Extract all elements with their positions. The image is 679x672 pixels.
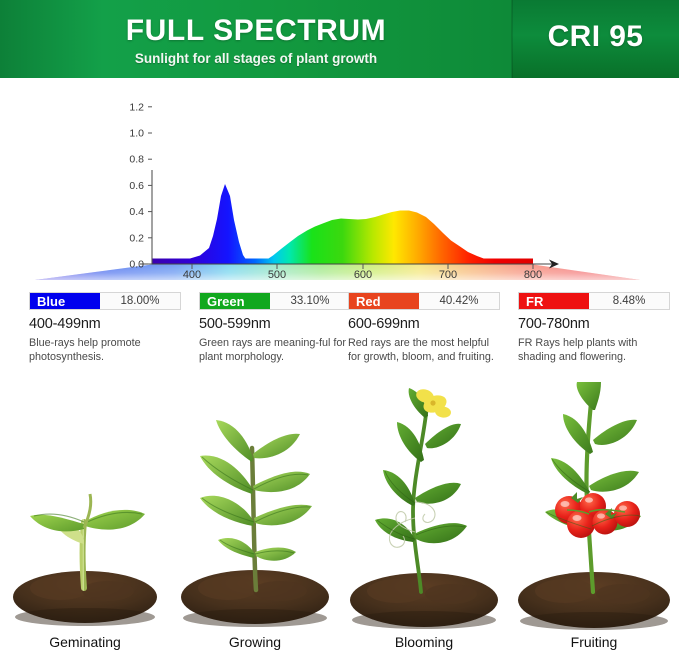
band-range-blue: 400-499nm	[29, 316, 189, 332]
growth-stage-label-geminating: Geminating	[0, 634, 170, 650]
y-tick-0: 0.0	[129, 259, 144, 271]
y-tick-4: 0.8	[129, 154, 144, 166]
spectrum-chart: 0.0 0.2 0.4 0.6 0.8 1.0 1.2 400 500 600 …	[0, 78, 679, 285]
growth-stage-growing: Growing	[170, 382, 340, 672]
spectrum-band-cards: Blue 18.00% 400-499nm Blue-rays help pro…	[0, 292, 679, 372]
band-card-red: Red 40.42% 600-699nm Red rays are the mo…	[348, 292, 508, 364]
spectrum-chart-svg: 0.0 0.2 0.4 0.6 0.8 1.0 1.2 400 500 600 …	[0, 78, 679, 285]
band-percent-red: 40.42%	[419, 293, 499, 309]
growth-stage-fruiting: Fruiting	[509, 382, 679, 672]
band-badge-green: Green 33.10%	[199, 292, 351, 310]
cri-badge: CRI 95	[512, 20, 679, 54]
band-badge-fr: FR 8.48%	[518, 292, 670, 310]
fruiting-tomato-illustration-icon	[509, 382, 679, 640]
band-card-fr: FR 8.48% 700-780nm FR Rays help plants w…	[518, 292, 678, 364]
x-tick-800: 800	[524, 269, 542, 281]
band-badge-blue: Blue 18.00%	[29, 292, 181, 310]
band-name-red: Red	[349, 293, 419, 309]
y-tick-6: 1.2	[129, 101, 144, 113]
growth-stage-label-growing: Growing	[170, 634, 340, 650]
band-name-green: Green	[200, 293, 270, 309]
band-percent-green: 33.10%	[270, 293, 350, 309]
band-percent-blue: 18.00%	[100, 293, 180, 309]
page-title: FULL SPECTRUM	[0, 14, 512, 48]
x-tick-700: 700	[439, 269, 457, 281]
band-card-green: Green 33.10% 500-599nm Green rays are me…	[199, 292, 359, 364]
band-range-red: 600-699nm	[348, 316, 508, 332]
band-name-fr: FR	[519, 293, 589, 309]
y-tick-2: 0.4	[129, 206, 144, 218]
band-percent-fr: 8.48%	[589, 293, 669, 309]
band-description-blue: Blue-rays help promote photosynthesis.	[29, 336, 181, 364]
y-tick-1: 0.2	[129, 232, 144, 244]
y-axis-ticks: 0.0 0.2 0.4 0.6 0.8 1.0 1.2	[129, 101, 152, 270]
growth-stage-row: Geminating	[0, 382, 679, 672]
x-tick-400: 400	[183, 269, 201, 281]
growth-stage-geminating: Geminating	[0, 382, 170, 672]
growth-stage-label-fruiting: Fruiting	[509, 634, 679, 650]
band-name-blue: Blue	[30, 293, 100, 309]
band-description-red: Red rays are the most helpful for growth…	[348, 336, 500, 364]
band-badge-red: Red 40.42%	[348, 292, 500, 310]
header-banner: FULL SPECTRUM Sunlight for all stages of…	[0, 0, 679, 78]
y-tick-5: 1.0	[129, 128, 144, 140]
page-subtitle: Sunlight for all stages of plant growth	[0, 51, 512, 66]
band-range-fr: 700-780nm	[518, 316, 678, 332]
band-range-green: 500-599nm	[199, 316, 359, 332]
x-tick-500: 500	[268, 269, 286, 281]
band-description-green: Green rays are meaning-ful for plant mor…	[199, 336, 351, 364]
spectrum-fan	[35, 265, 640, 281]
growth-stage-blooming: Blooming	[339, 382, 509, 672]
flowering-plant-illustration-icon	[339, 382, 509, 640]
band-card-blue: Blue 18.00% 400-499nm Blue-rays help pro…	[29, 292, 189, 364]
band-description-fr: FR Rays help plants with shading and flo…	[518, 336, 670, 364]
seedling-illustration-icon	[0, 382, 170, 640]
y-tick-3: 0.6	[129, 180, 144, 192]
spectral-curve-fill	[152, 168, 533, 273]
x-tick-600: 600	[354, 269, 372, 281]
vegetative-plant-illustration-icon	[170, 382, 340, 640]
growth-stage-label-blooming: Blooming	[339, 634, 509, 650]
